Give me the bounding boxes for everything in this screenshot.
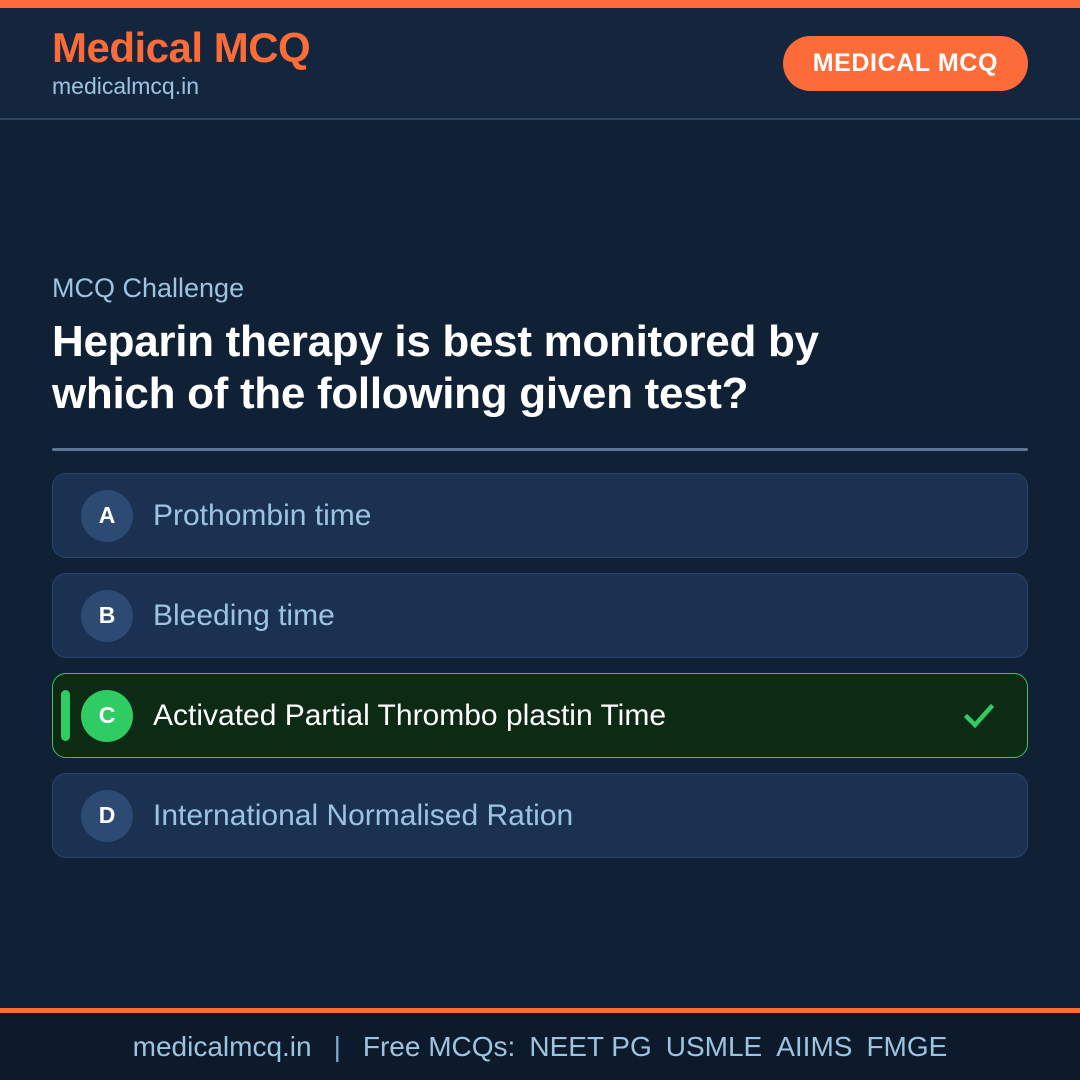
option-a-letter: A bbox=[81, 490, 133, 542]
question-divider bbox=[52, 448, 1028, 451]
option-d[interactable]: D International Normalised Ration bbox=[52, 773, 1028, 858]
brand-subtitle: medicalmcq.in bbox=[52, 72, 310, 101]
mcq-card: Medical MCQ medicalmcq.in MEDICAL MCQ MC… bbox=[0, 0, 1080, 1080]
footer-site: medicalmcq.in bbox=[133, 1031, 312, 1063]
question-text: Heparin therapy is best monitored by whi… bbox=[52, 316, 862, 420]
main-content: MCQ Challenge Heparin therapy is best mo… bbox=[0, 120, 1080, 1008]
footer-label: Free MCQs: bbox=[363, 1031, 515, 1063]
header: Medical MCQ medicalmcq.in MEDICAL MCQ bbox=[0, 8, 1080, 120]
footer-exam-aiims: AIIMS bbox=[776, 1031, 852, 1063]
option-b[interactable]: B Bleeding time bbox=[52, 573, 1028, 658]
footer-content: medicalmcq.in | Free MCQs: NEET PG USMLE… bbox=[133, 1031, 948, 1063]
footer-exam-neet-pg: NEET PG bbox=[529, 1031, 651, 1063]
footer: medicalmcq.in | Free MCQs: NEET PG USMLE… bbox=[0, 1008, 1080, 1080]
option-c-text: Activated Partial Thrombo plastin Time bbox=[153, 698, 945, 734]
option-a-text: Prothombin time bbox=[153, 498, 999, 534]
option-b-letter: B bbox=[81, 590, 133, 642]
footer-separator: | bbox=[334, 1031, 341, 1063]
options-list: A Prothombin time B Bleeding time C Acti… bbox=[52, 473, 1028, 858]
option-a[interactable]: A Prothombin time bbox=[52, 473, 1028, 558]
option-d-text: International Normalised Ration bbox=[153, 798, 999, 834]
option-d-letter: D bbox=[81, 790, 133, 842]
brand-badge: MEDICAL MCQ bbox=[783, 36, 1028, 91]
correct-accent-bar bbox=[61, 690, 70, 741]
eyebrow-label: MCQ Challenge bbox=[52, 272, 1028, 304]
footer-exam-usmle: USMLE bbox=[666, 1031, 762, 1063]
option-c-letter: C bbox=[81, 690, 133, 742]
option-b-text: Bleeding time bbox=[153, 598, 999, 634]
footer-exam-fmge: FMGE bbox=[866, 1031, 947, 1063]
check-icon bbox=[959, 696, 999, 736]
option-c[interactable]: C Activated Partial Thrombo plastin Time bbox=[52, 673, 1028, 758]
brand-title: Medical MCQ bbox=[52, 26, 310, 70]
brand: Medical MCQ medicalmcq.in bbox=[52, 26, 310, 101]
top-accent-bar bbox=[0, 0, 1080, 8]
